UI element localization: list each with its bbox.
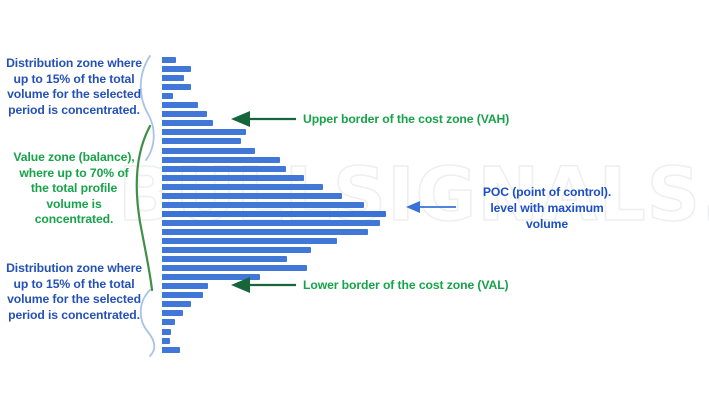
lower-distribution-zone-label: Distribution zone where up to 15% of the…	[4, 261, 144, 323]
left-arrow-icon	[404, 198, 458, 216]
volume-bar	[162, 238, 337, 244]
volume-bar	[162, 111, 207, 117]
value-area-label: Value zone (balance), where up to 70% of…	[12, 150, 136, 228]
volume-bar	[162, 184, 323, 190]
volume-profile-diagram: BULLSIGNALS.COM Distribution zone where …	[0, 0, 709, 406]
upper-distribution-zone-label: Distribution zone where up to 15% of the…	[4, 56, 144, 118]
volume-bar	[162, 57, 176, 63]
volume-bar	[162, 193, 342, 199]
volume-bar	[162, 283, 208, 289]
volume-bar	[162, 310, 183, 316]
volume-bar	[162, 157, 280, 163]
volume-bar	[162, 120, 213, 126]
volume-bar	[162, 319, 175, 325]
volume-bar	[162, 148, 255, 154]
volume-bar	[162, 247, 311, 253]
volume-bar	[162, 301, 191, 307]
callout-vah-text: Upper border of the cost zone (VAH)	[303, 111, 509, 127]
volume-bar	[162, 129, 246, 135]
volume-bar	[162, 211, 386, 217]
volume-bar	[162, 202, 364, 208]
volume-bar	[162, 220, 380, 226]
volume-bar	[162, 347, 180, 353]
volume-bar	[162, 102, 198, 108]
volume-bar	[162, 175, 304, 181]
volume-bar	[162, 338, 170, 344]
callout-val-text: Lower border of the cost zone (VAL)	[303, 277, 509, 293]
left-arrow-icon	[228, 110, 298, 128]
volume-bar	[162, 84, 191, 90]
volume-bar	[162, 265, 307, 271]
volume-bar	[162, 93, 173, 99]
volume-bar	[162, 75, 184, 81]
volume-bar	[162, 229, 368, 235]
left-arrow-icon	[228, 276, 298, 294]
volume-bar	[162, 292, 203, 298]
volume-bar	[162, 329, 171, 335]
volume-bar	[162, 256, 287, 262]
volume-bar	[162, 66, 191, 72]
volume-bar	[162, 138, 241, 144]
callout-poc-text: POC (point of control). level with maxim…	[462, 184, 632, 232]
volume-bar	[162, 166, 286, 172]
